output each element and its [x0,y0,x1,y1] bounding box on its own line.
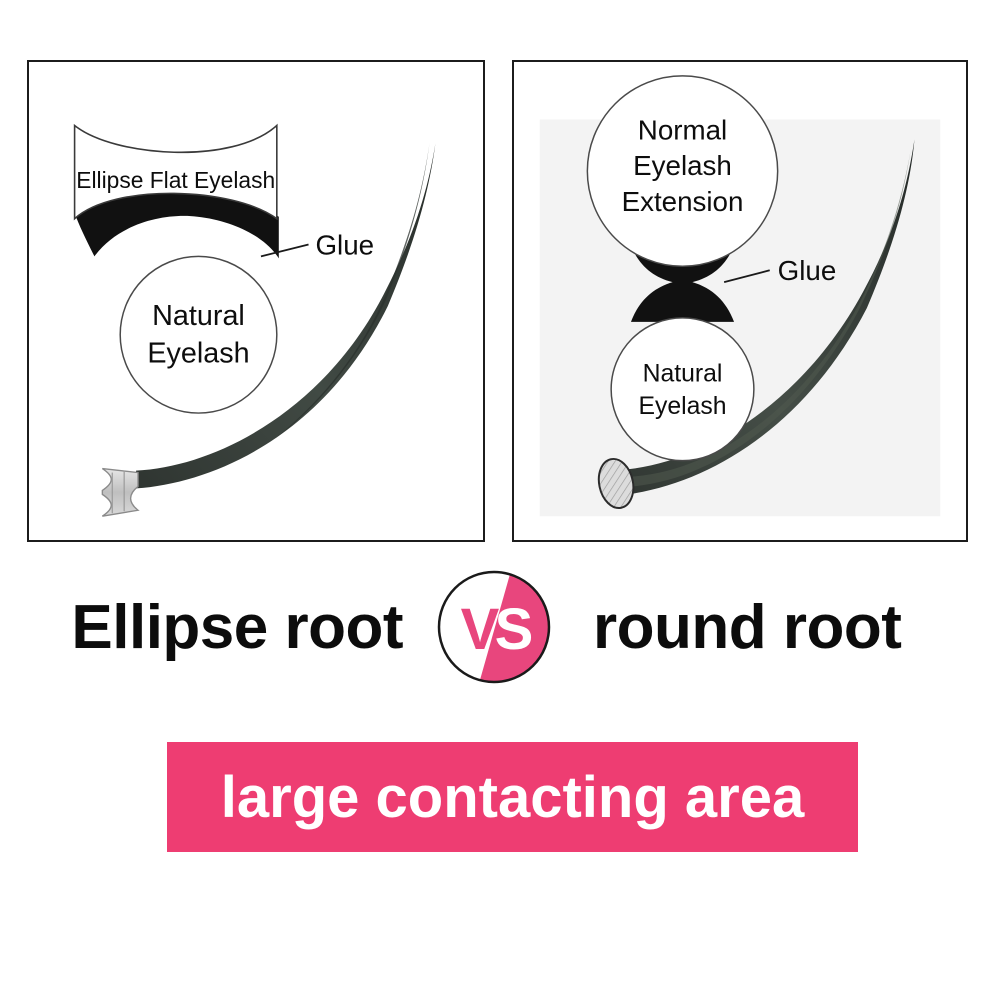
natural-eyelash-circle [611,318,754,461]
comparison-panels: Ellipse Flat Eyelash Natural Eyelash Glu… [0,0,1000,560]
vs-badge-s: S [495,597,534,662]
natural-eyelash-circle [120,256,277,413]
label-normal-line3: Extension [622,186,744,217]
ellipse-flat-diagram: Ellipse Flat Eyelash Natural Eyelash Glu… [29,62,483,540]
label-normal-line1: Normal [638,114,727,145]
vs-badge-graphic: V S [434,567,554,687]
flat-root-cross-section [102,469,138,517]
vs-badge: V S [434,567,554,687]
label-natural-eyelash-line2: Eyelash [147,337,249,369]
banner-text: large contacting area [221,764,804,831]
label-normal-line2: Eyelash [633,150,732,181]
label-ellipse-flat-eyelash: Ellipse Flat Eyelash [76,167,275,193]
label-glue: Glue [778,255,837,286]
label-glue: Glue [315,229,374,260]
panel-normal-round: Normal Eyelash Extension Natural Eyelash… [512,60,968,542]
label-natural-eyelash-line2: Eyelash [638,393,726,420]
comparison-right-label: round root [575,565,1000,690]
label-natural-eyelash-line1: Natural [643,360,723,387]
vs-comparison-row: Ellipse root V S round root [0,565,1000,690]
label-natural-eyelash-line1: Natural [152,300,245,332]
normal-round-diagram: Normal Eyelash Extension Natural Eyelash… [514,62,966,540]
highlight-banner: large contacting area [167,742,858,852]
comparison-left-label: Ellipse root [0,565,425,690]
infographic-root: Ellipse Flat Eyelash Natural Eyelash Glu… [0,0,1000,1000]
panel-ellipse-flat: Ellipse Flat Eyelash Natural Eyelash Glu… [27,60,485,542]
glue-leader-line [261,244,309,256]
